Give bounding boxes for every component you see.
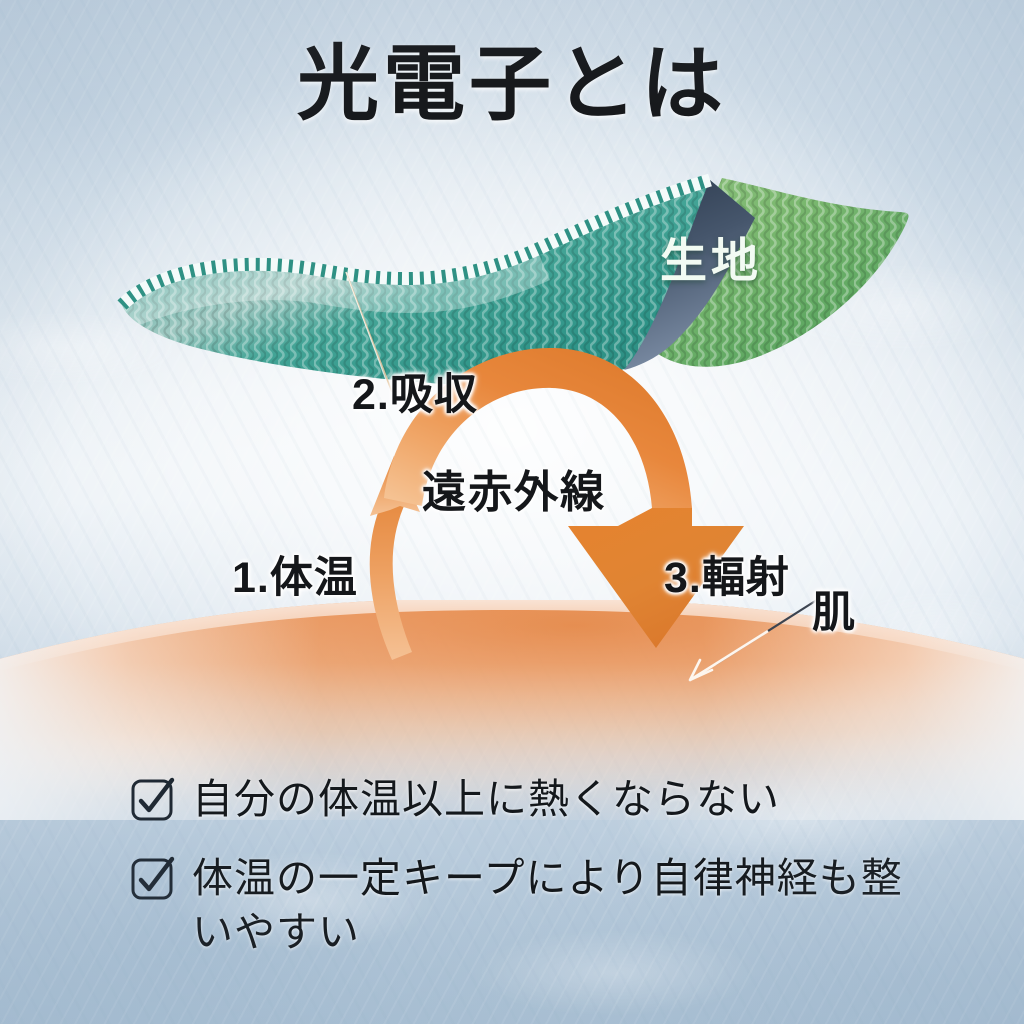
label-absorption: 2.吸収 [352, 360, 478, 422]
label-far-infrared: 遠赤外線 [422, 456, 606, 520]
page-title: 光電子とは [0, 44, 1024, 126]
list-item: 体温の一定キープにより自律神経も整いやすい [130, 851, 910, 960]
label-skin: 肌 [812, 578, 856, 640]
label-radiation: 3.輻射 [664, 543, 790, 605]
benefits-checklist: 自分の体温以上に熱くならない 体温の一定キープにより自律神経も整いやすい [130, 772, 910, 984]
infographic-canvas: 光電子とは [0, 0, 1024, 1024]
checkmark-icon [130, 857, 174, 901]
list-item-label: 体温の一定キープにより自律神経も整いやすい [192, 851, 910, 960]
checkmark-icon [130, 778, 174, 822]
label-body-temperature: 1.体温 [232, 543, 358, 605]
list-item-label: 自分の体温以上に熱くならない [192, 772, 780, 827]
list-item: 自分の体温以上に熱くならない [130, 772, 910, 827]
fabric-label: 生地 [660, 222, 762, 291]
skin-pointer-line-light [690, 631, 768, 680]
absorption-arrow-shaft [370, 498, 412, 660]
